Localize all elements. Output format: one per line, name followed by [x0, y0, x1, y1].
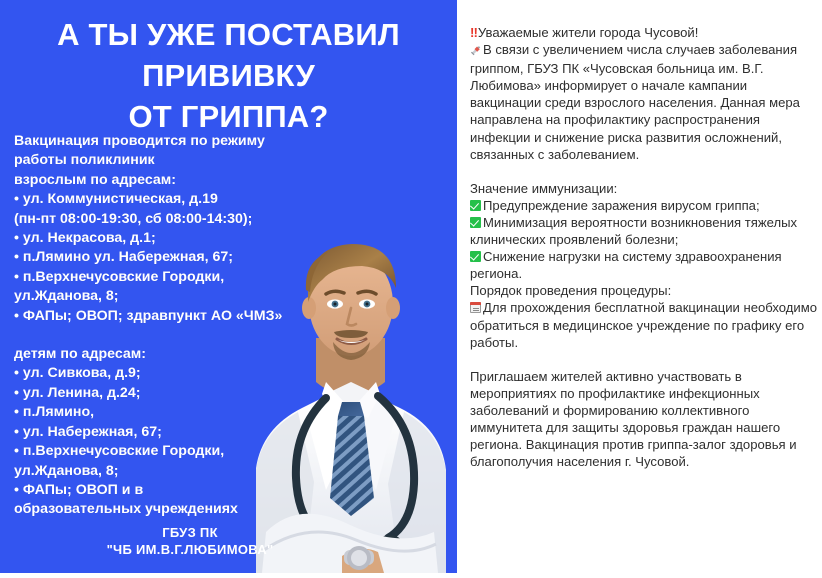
benefit-text: Снижение нагрузки на систему здравоохран…	[470, 249, 782, 281]
check-mark-icon	[470, 217, 481, 228]
adult-line: взрослым по адресам:	[14, 171, 364, 190]
vaccination-poster: А ТЫ УЖЕ ПОСТАВИЛ ПРИВИВКУ ОТ ГРИППА? Ва…	[0, 0, 457, 573]
check-mark-icon	[470, 200, 481, 211]
adult-line: Вакцинация проводится по режиму	[14, 132, 364, 151]
check-mark-icon	[470, 251, 481, 262]
children-line: образовательных учреждениях	[14, 500, 364, 519]
adult-line: • ул. Коммунистическая, д.19	[14, 190, 364, 209]
poster-title-line-2: ПРИВИВКУ	[0, 55, 457, 96]
adult-line: ул.Жданова, 8;	[14, 287, 364, 306]
adult-line: (пн-пт 08:00-19:30, сб 08:00-14:30);	[14, 210, 364, 229]
benefits-heading: Значение иммунизации:	[470, 180, 818, 197]
procedure-text-block: Для прохождения бесплатной вакцинации не…	[470, 299, 818, 350]
calendar-icon	[470, 302, 481, 313]
benefit-item: Минимизация вероятности возникновения тя…	[470, 214, 818, 248]
adult-line: • п.Верхнечусовские Городки,	[14, 268, 364, 287]
poster-page: А ТЫ УЖЕ ПОСТАВИЛ ПРИВИВКУ ОТ ГРИППА? Ва…	[0, 0, 822, 578]
article-headline-text: Уважаемые жители города Чусовой!	[478, 25, 698, 40]
paragraph-spacer	[470, 163, 818, 180]
children-line: • п.Лямино,	[14, 403, 364, 422]
adult-line: • п.Лямино ул. Набережная, 67;	[14, 248, 364, 267]
poster-title: А ТЫ УЖЕ ПОСТАВИЛ ПРИВИВКУ ОТ ГРИППА?	[0, 14, 457, 137]
poster-footer: ГБУЗ ПК "ЧБ ИМ.В.Г.ЛЮБИМОВА"	[0, 524, 380, 558]
children-line: • ул. Набережная, 67;	[14, 423, 364, 442]
children-line: ул.Жданова, 8;	[14, 462, 364, 481]
article-intro: В связи с увеличением числа случаев забо…	[470, 41, 818, 163]
poster-address-block: Вакцинация проводится по режиму работы п…	[14, 132, 364, 520]
children-line: детям по адресам:	[14, 345, 364, 364]
adult-line: • ФАПы; ОВОП; здравпункт АО «ЧМЗ»	[14, 307, 364, 326]
syringe-icon	[470, 43, 482, 60]
procedure-text: Для прохождения бесплатной вакцинации не…	[470, 300, 817, 349]
benefit-text: Предупреждение заражения вирусом гриппа;	[483, 198, 760, 213]
poster-title-line-3: ОТ ГРИППА?	[0, 96, 457, 137]
footer-line-2: "ЧБ ИМ.В.Г.ЛЮБИМОВА"	[0, 541, 380, 558]
adult-line: • ул. Некрасова, д.1;	[14, 229, 364, 248]
children-line: • ул. Сивкова, д.9;	[14, 364, 364, 383]
article-headline: ‼Уважаемые жители города Чусовой!	[470, 24, 818, 41]
paragraph-spacer	[470, 351, 818, 368]
benefit-text: Минимизация вероятности возникновения тя…	[470, 215, 797, 247]
benefit-item: Предупреждение заражения вирусом гриппа;	[470, 197, 818, 214]
footer-line-1: ГБУЗ ПК	[0, 524, 380, 541]
poster-title-line-1: А ТЫ УЖЕ ПОСТАВИЛ	[0, 14, 457, 55]
benefit-item: Снижение нагрузки на систему здравоохран…	[470, 248, 818, 282]
closing-paragraph: Приглашаем жителей активно участвовать в…	[470, 368, 818, 471]
article-intro-text: В связи с увеличением числа случаев забо…	[470, 42, 800, 162]
article-text-column: ‼Уважаемые жители города Чусовой! В связ…	[470, 24, 818, 470]
adult-line: работы поликлиник	[14, 151, 364, 170]
children-line: • ул. Ленина, д.24;	[14, 384, 364, 403]
section-spacer	[14, 326, 364, 345]
procedure-heading: Порядок проведения процедуры:	[470, 282, 818, 299]
double-exclamation-icon: ‼	[470, 25, 477, 40]
children-line: • ФАПы; ОВОП и в	[14, 481, 364, 500]
children-line: • п.Верхнечусовские Городки,	[14, 442, 364, 461]
